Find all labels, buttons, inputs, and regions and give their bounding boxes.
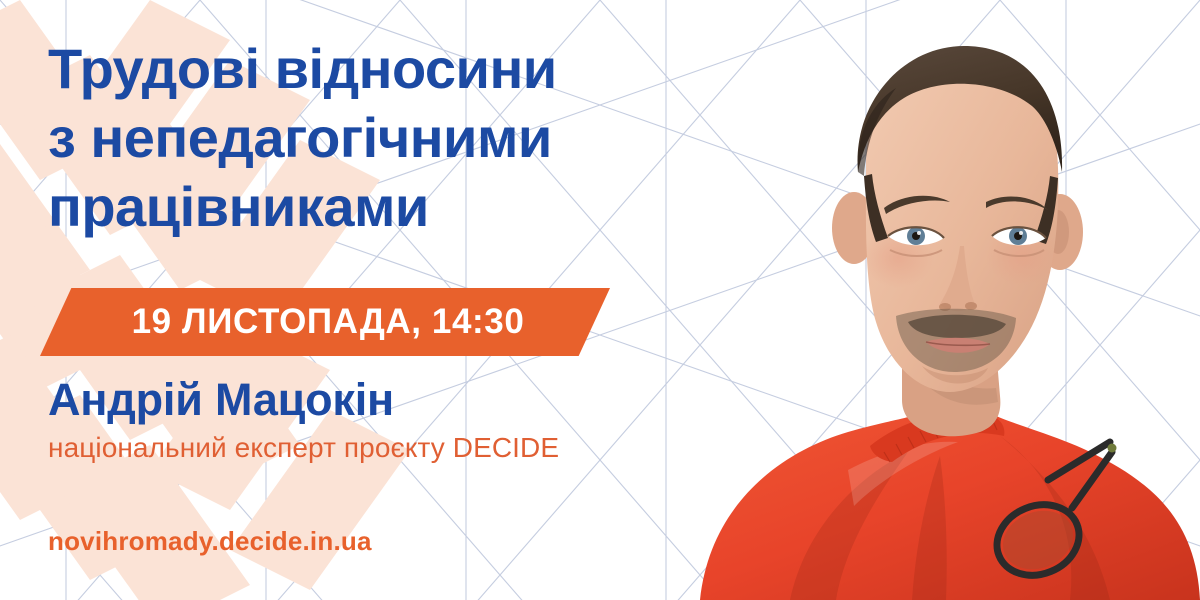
glasses-lens <box>994 501 1082 580</box>
event-announcement-poster: Трудові відносини з непедагогічними прац… <box>0 0 1200 600</box>
sweater-collar <box>870 412 1004 462</box>
speaker-role: національний експерт проєкту DECIDE <box>48 432 559 464</box>
glasses <box>986 442 1112 587</box>
glasses-hinge <box>1108 444 1117 453</box>
speaker-name: Андрій Мацокін <box>48 374 394 426</box>
text-content: Трудові відносини з непедагогічними прац… <box>0 0 760 600</box>
beard <box>896 309 1016 372</box>
moustache <box>908 315 1006 338</box>
date-ribbon-label: 19 ЛИСТОПАДА, 14:30 <box>40 288 610 356</box>
right-eyebrow <box>986 196 1048 210</box>
hair <box>858 46 1063 172</box>
face <box>866 52 1058 392</box>
left-eyebrow <box>884 196 950 214</box>
nose <box>940 246 976 311</box>
sweater <box>700 414 1200 600</box>
website-url: novihromady.decide.in.ua <box>48 526 372 557</box>
neck <box>902 300 1000 436</box>
page-title: Трудові відносини з непедагогічними прац… <box>48 34 748 241</box>
left-eye <box>888 227 944 256</box>
left-ear <box>832 192 876 264</box>
right-ear <box>1037 194 1083 270</box>
mouth <box>926 338 990 353</box>
date-ribbon: 19 ЛИСТОПАДА, 14:30 <box>40 288 610 356</box>
right-eye <box>992 227 1046 256</box>
